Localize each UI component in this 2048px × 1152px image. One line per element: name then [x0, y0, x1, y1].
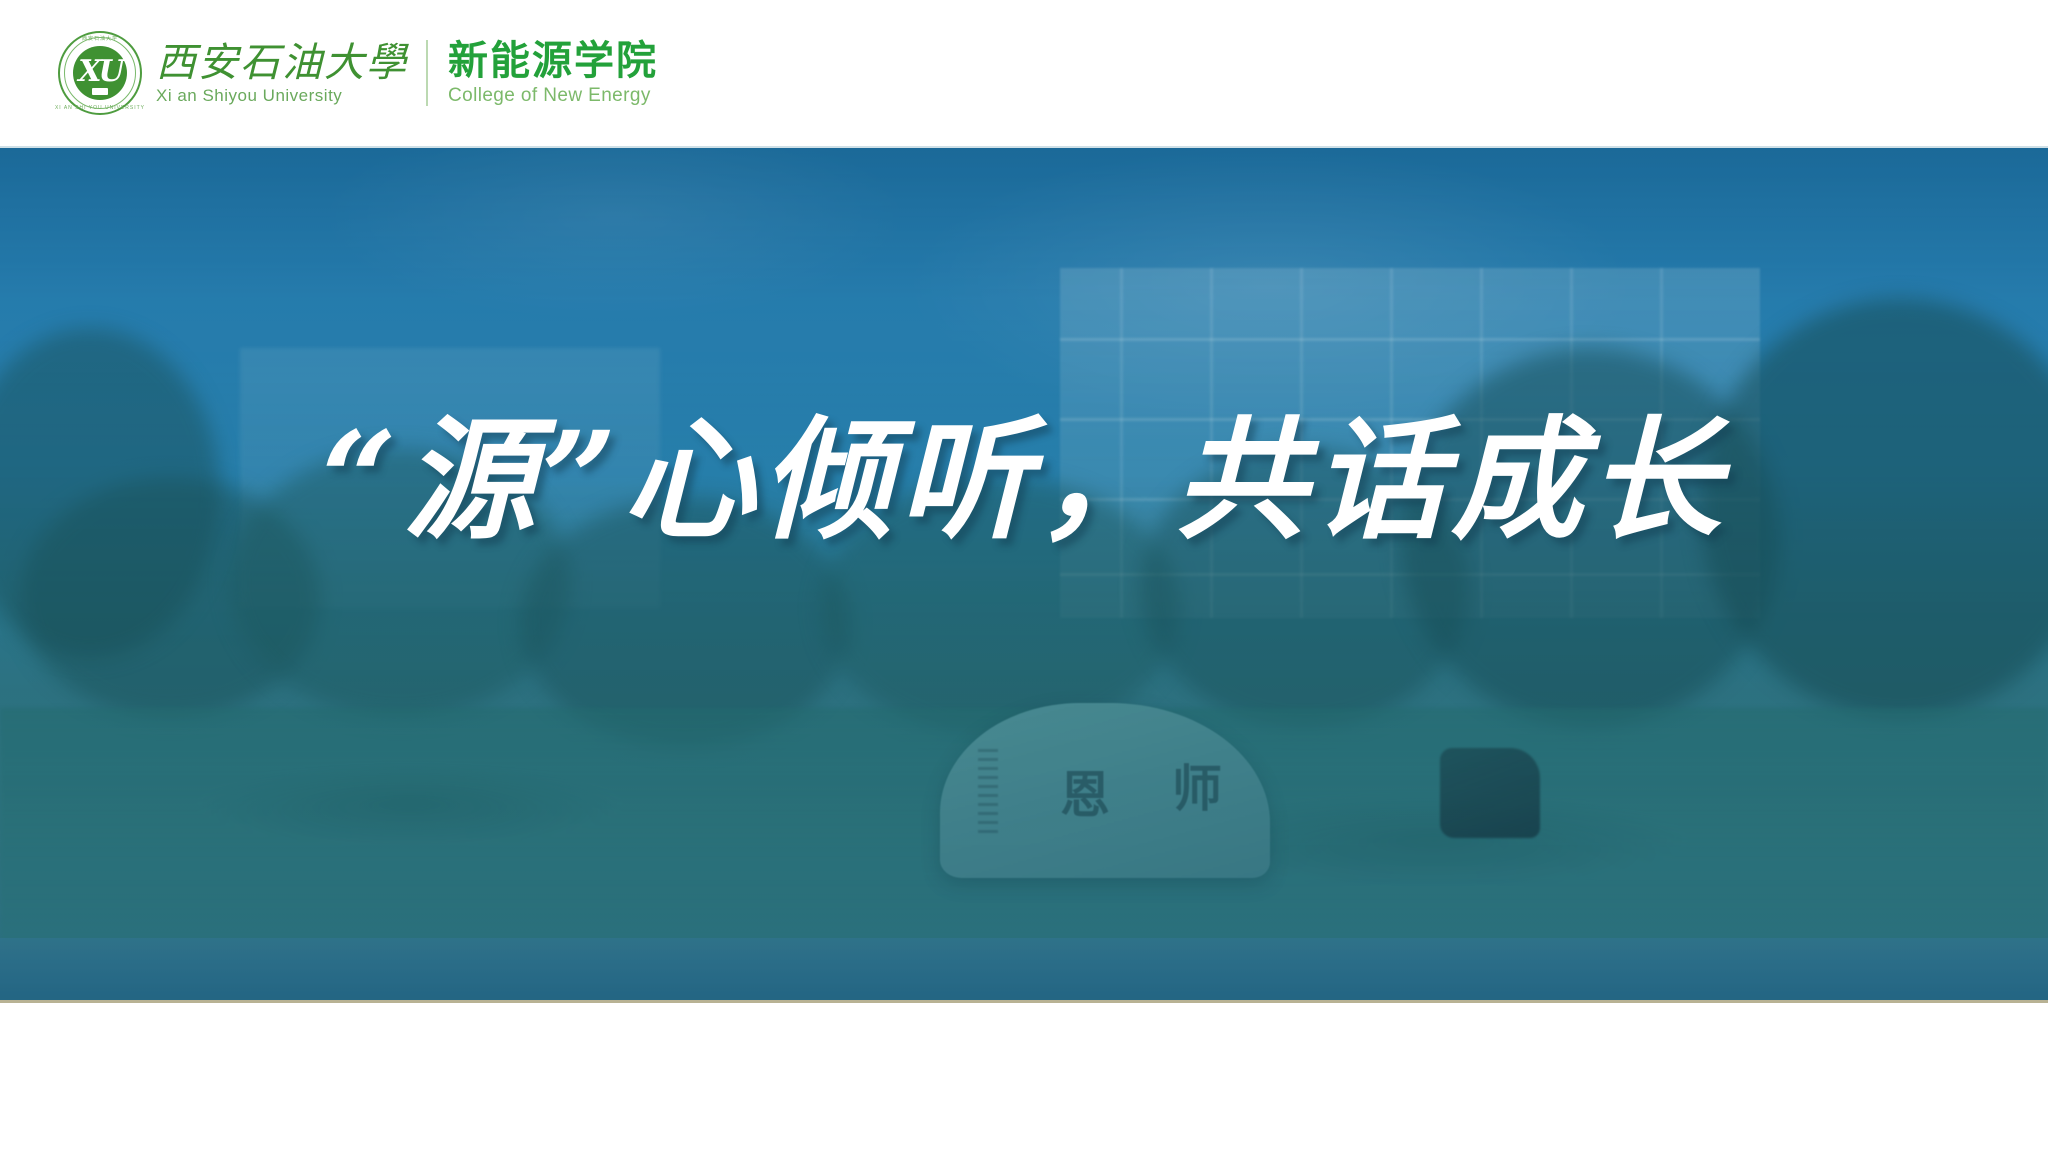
photo-color-overlay [0, 148, 2048, 1002]
university-name-block: 西安石油大學 Xi an Shiyou University [156, 41, 408, 106]
page-footer-blank [0, 1003, 2048, 1152]
logo-divider [426, 40, 428, 106]
logo-lockup[interactable]: 西安石油大学 XI AN SHI YOU UNIVERSITY XU 西安石油大… [58, 31, 658, 115]
college-name-en: College of New Energy [448, 85, 658, 107]
page-header: 西安石油大学 XI AN SHI YOU UNIVERSITY XU 西安石油大… [0, 0, 2048, 146]
college-name-cn: 新能源学院 [448, 39, 658, 83]
university-name-cn: 西安石油大學 [156, 41, 408, 85]
seal-monogram: XU [58, 29, 142, 113]
banner-title: “源”心倾听，共话成长 [0, 406, 2048, 556]
college-name-block: 新能源学院 College of New Energy [448, 39, 658, 107]
university-seal-icon: 西安石油大学 XI AN SHI YOU UNIVERSITY XU [58, 31, 142, 115]
seal-tag [92, 88, 108, 95]
hero-banner: 恩 师 “源”心倾听，共话成长 2024年12月 [0, 148, 2048, 1002]
university-name-en: Xi an Shiyou University [156, 86, 408, 106]
